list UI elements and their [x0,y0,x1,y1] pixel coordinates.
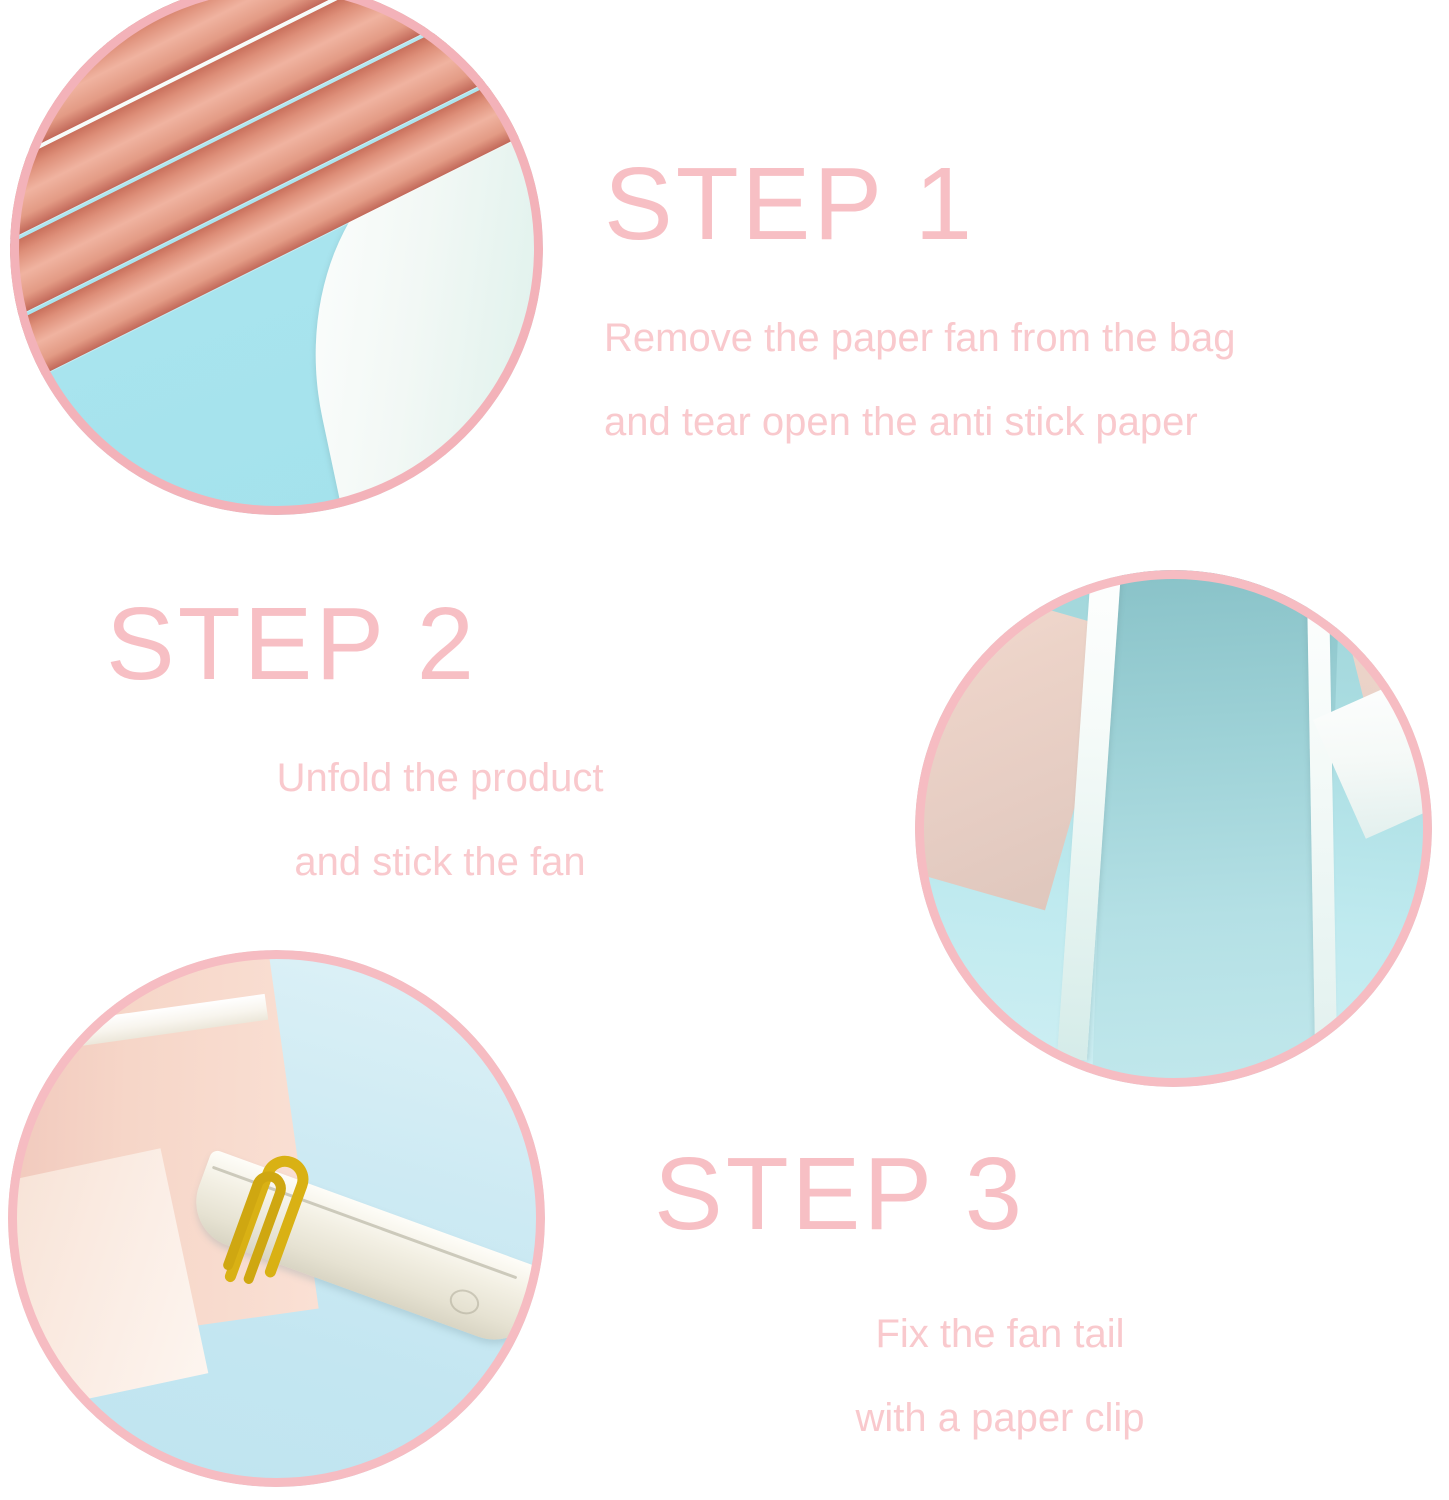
step-1-line-1: Remove the paper fan from the bag [604,317,1235,359]
circle-2-image [915,570,1432,1087]
unfolded-fan-photo [915,570,1432,1087]
tail-dot-mark [446,1286,482,1319]
step-3-heading: STEP 3 [640,1142,1360,1245]
center-blue-panel [1091,570,1340,1087]
step-2-text-block: STEP 2 Unfold the product and stick the … [100,592,780,883]
paper-clip-on-tail-photo [8,950,545,1487]
circle-1-image [10,0,543,515]
step-2-line-2: and stick the fan [100,841,780,883]
step-2-heading: STEP 2 [100,592,780,695]
step-3-line-2: with a paper clip [640,1397,1360,1439]
folded-fan-in-bag-photo [10,0,543,515]
step-1-text-block: STEP 1 Remove the paper fan from the bag… [604,152,1235,443]
step-1-line-2: and tear open the anti stick paper [604,401,1235,443]
step-3-text-block: STEP 3 Fix the fan tail with a paper cli… [640,1142,1360,1439]
step-1-heading: STEP 1 [604,152,1235,255]
step-3-line-1: Fix the fan tail [640,1313,1360,1355]
circle-3-image [8,950,545,1487]
step-2-line-1: Unfold the product [100,757,780,799]
instruction-infographic: STEP 1 Remove the paper fan from the bag… [0,0,1449,1500]
